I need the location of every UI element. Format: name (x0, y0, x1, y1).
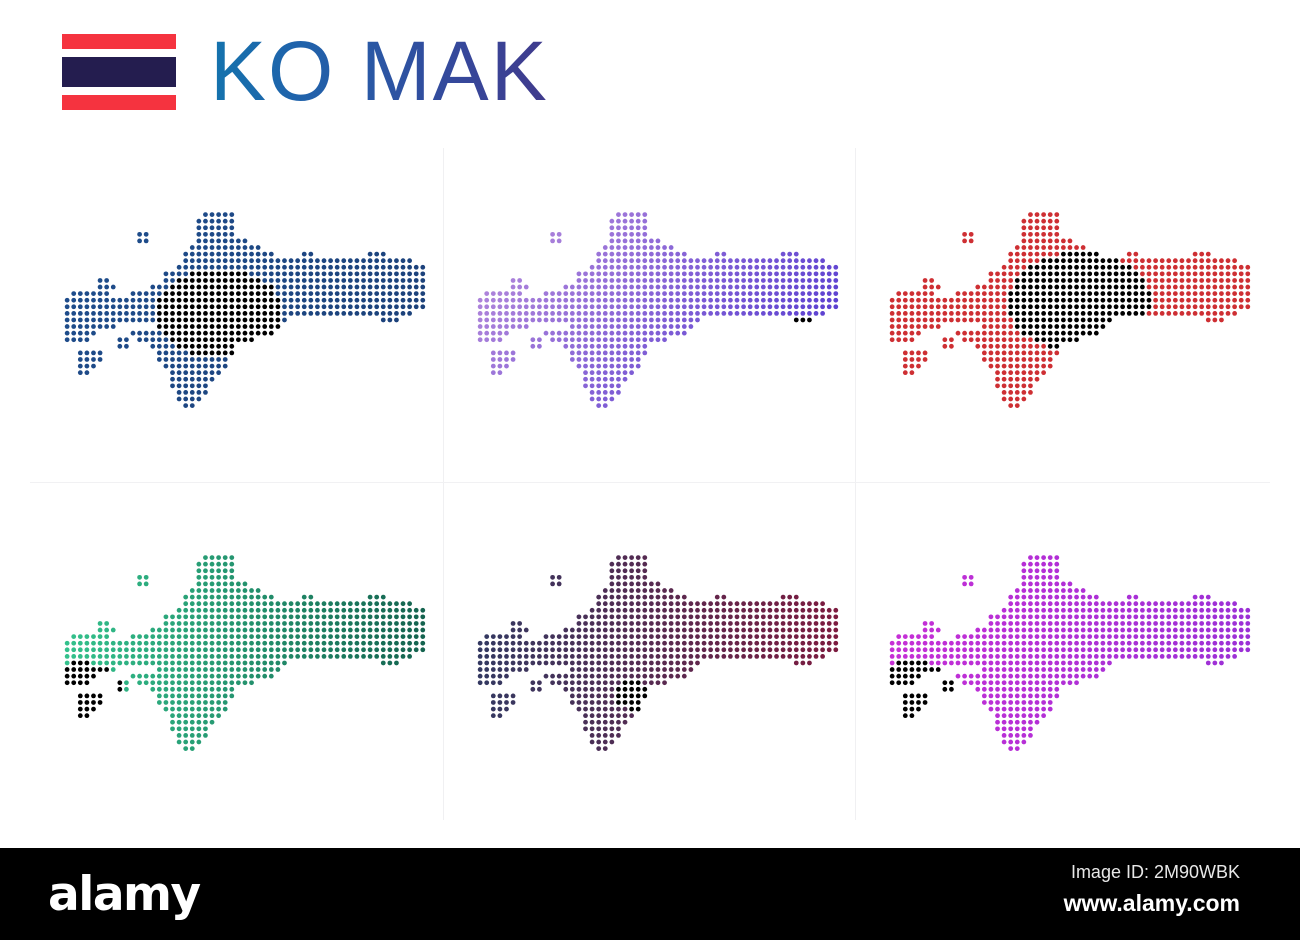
ko-mak-dotted-map-violet (443, 140, 855, 482)
dot-layer (478, 555, 838, 751)
page-root: KO MAK alamy Image ID: 2M90WBK www.alamy… (0, 0, 1300, 940)
dot-layer (65, 555, 425, 751)
flag-stripe-white-bottom (62, 87, 176, 95)
ko-mak-dotted-map-dark (443, 483, 855, 825)
dot-layer (65, 212, 425, 408)
flag-stripe-red-bottom (62, 95, 176, 110)
page-header: KO MAK (0, 0, 1300, 140)
map-cell-red[interactable] (855, 140, 1267, 482)
ko-mak-dotted-map-green (30, 483, 442, 825)
alamy-logo: alamy (48, 870, 200, 920)
flag-stripe-red-top (62, 34, 176, 49)
map-cell-green[interactable] (30, 483, 442, 825)
page-title: KO MAK (210, 18, 549, 124)
map-cell-dark[interactable] (443, 483, 855, 825)
ko-mak-dotted-map-blue (30, 140, 442, 482)
dot-layer (890, 212, 1250, 408)
image-id-label: Image ID: 2M90WBK (1071, 862, 1240, 883)
map-grid (0, 140, 1300, 830)
dot-layer (478, 212, 838, 408)
dot-layer (890, 555, 1250, 751)
alamy-watermark-bar: alamy Image ID: 2M90WBK www.alamy.com (0, 848, 1300, 940)
ko-mak-dotted-map-red (855, 140, 1267, 482)
map-cell-blue[interactable] (30, 140, 442, 482)
ko-mak-dotted-map-magenta (855, 483, 1267, 825)
thailand-flag-icon (62, 34, 176, 110)
flag-stripe-white-top (62, 49, 176, 57)
flag-stripe-navy (62, 57, 176, 87)
map-cell-magenta[interactable] (855, 483, 1267, 825)
alamy-url-label: www.alamy.com (1064, 890, 1240, 917)
map-cell-violet[interactable] (443, 140, 855, 482)
